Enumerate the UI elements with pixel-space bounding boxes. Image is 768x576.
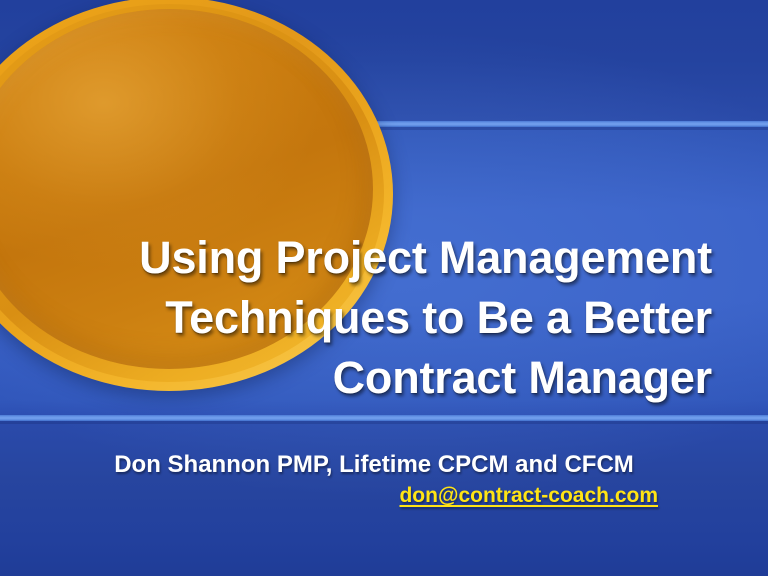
- presenter-name: Don Shannon PMP, Lifetime CPCM and CFCM: [84, 450, 664, 480]
- slide-title: Using Project Management Techniques to B…: [40, 228, 712, 408]
- title-line-1: Using Project Management: [40, 228, 712, 288]
- title-line-2: Techniques to Be a Better: [40, 288, 712, 348]
- email-row: don@contract-coach.com: [84, 482, 664, 510]
- presentation-title-slide: Using Project Management Techniques to B…: [0, 0, 768, 576]
- title-line-3: Contract Manager: [40, 348, 712, 408]
- decorative-rule-bottom: [0, 415, 768, 421]
- slide-subtitle: Don Shannon PMP, Lifetime CPCM and CFCM …: [84, 450, 664, 510]
- email-link[interactable]: don@contract-coach.com: [399, 482, 658, 510]
